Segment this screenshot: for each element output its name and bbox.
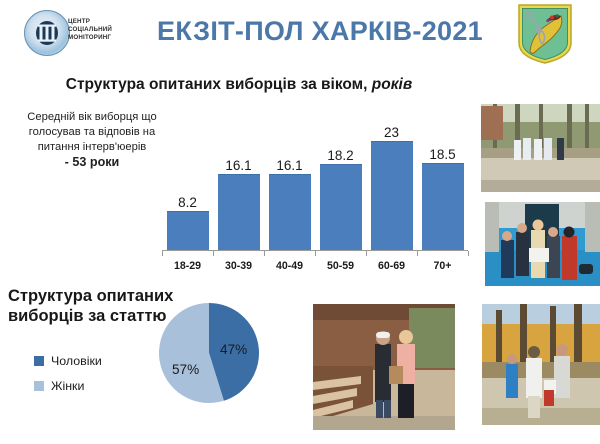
legend-swatch-men [34,356,44,366]
axis-tick [468,251,469,256]
logo-line-2: Соціальний [68,26,130,34]
bar-rect [218,174,260,250]
legend-label-women: Жінки [51,379,84,393]
legend-label-men: Чоловіки [51,354,102,368]
logo-pillar-icon [35,20,59,46]
bar-rect [269,174,311,250]
bar-value-label: 8.2 [178,195,197,210]
bar-column: 23 [371,121,413,250]
slide-header: Центр Соціальний Моніторинг ЕКЗІТ-ПОЛ ХА… [0,0,600,66]
bar-rect [371,141,413,250]
axis-tick [213,251,214,256]
bar-value-label: 23 [384,125,399,140]
organization-logo: Центр Соціальний Моніторинг [8,6,128,58]
note-average-age-value: - 53 роки [65,155,120,169]
pie-label-men: 47% [220,342,247,357]
bar-value-label: 16.1 [225,158,251,173]
age-structure-section: Структура опитаних виборців за віком, ро… [0,68,476,280]
slide-root: Центр Соціальний Моніторинг ЕКЗІТ-ПОЛ ХА… [0,0,600,444]
bar-column: 18.5 [422,143,464,250]
pie-legend: Чоловіки Жінки [34,354,102,404]
legend-swatch-women [34,381,44,391]
bar-column: 16.1 [218,154,260,250]
logo-line-1: Центр [68,18,130,26]
bar-rect [422,163,464,250]
bar-category-label: 18-29 [163,260,213,272]
note-line-2: голосував та відповів на [29,126,155,138]
age-chart-title: Структура опитаних виборців за віком, ро… [14,76,464,94]
axis-tick [264,251,265,256]
bar-column: 18.2 [320,144,362,250]
logo-line-3: Моніторинг [68,34,130,42]
photo-interviewer-respondent [313,304,455,430]
bar-category-label: 50-59 [316,260,366,272]
photo-voters-walking-park [482,304,600,425]
photo-polling-station-outdoor [481,104,600,192]
photo-observers-group [485,202,600,286]
bar-rect [320,164,362,250]
bar-column: 16.1 [269,154,311,250]
bar-column: 8.2 [167,191,209,250]
bar-category-label: 40-49 [265,260,315,272]
kharkiv-coat-of-arms-icon [516,3,574,65]
note-line-3: питання інтерв'юерів [38,141,147,153]
bar-category-label: 60-69 [367,260,417,272]
axis-tick [417,251,418,256]
logo-wordmark: Центр Соціальний Моніторинг [68,18,130,42]
axis-tick [315,251,316,256]
bar-category-label: 70+ [418,260,468,272]
gender-title-line-1: Структура опитаних [8,287,173,305]
axis-tick [366,251,367,256]
page-title: ЕКЗІТ-ПОЛ ХАРКІВ-2021 [140,16,500,47]
bar-value-label: 16.1 [276,158,302,173]
bar-rect [167,211,209,250]
gender-title-line-2: виборців за статтю [8,307,167,325]
pie-label-women: 57% [172,362,199,377]
note-line-1: Середній вік виборця що [27,111,156,123]
gender-structure-section: Структура опитаних виборців за статтю Чо… [0,282,300,444]
average-age-note: Середній вік виборця що голосував та від… [6,110,178,171]
axis-tick [162,251,163,256]
bar-value-label: 18.5 [429,147,455,162]
legend-item-men: Чоловіки [34,354,102,368]
age-chart-title-main: Структура опитаних виборців за віком, [66,76,368,93]
age-bar-chart: 8.218-2916.130-3916.140-4918.250-592360-… [160,100,470,280]
age-chart-title-italic: років [372,76,412,93]
gender-pie-chart: 47% 57% [158,302,260,404]
legend-item-women: Жінки [34,379,102,393]
bar-value-label: 18.2 [327,148,353,163]
bar-category-label: 30-39 [214,260,264,272]
